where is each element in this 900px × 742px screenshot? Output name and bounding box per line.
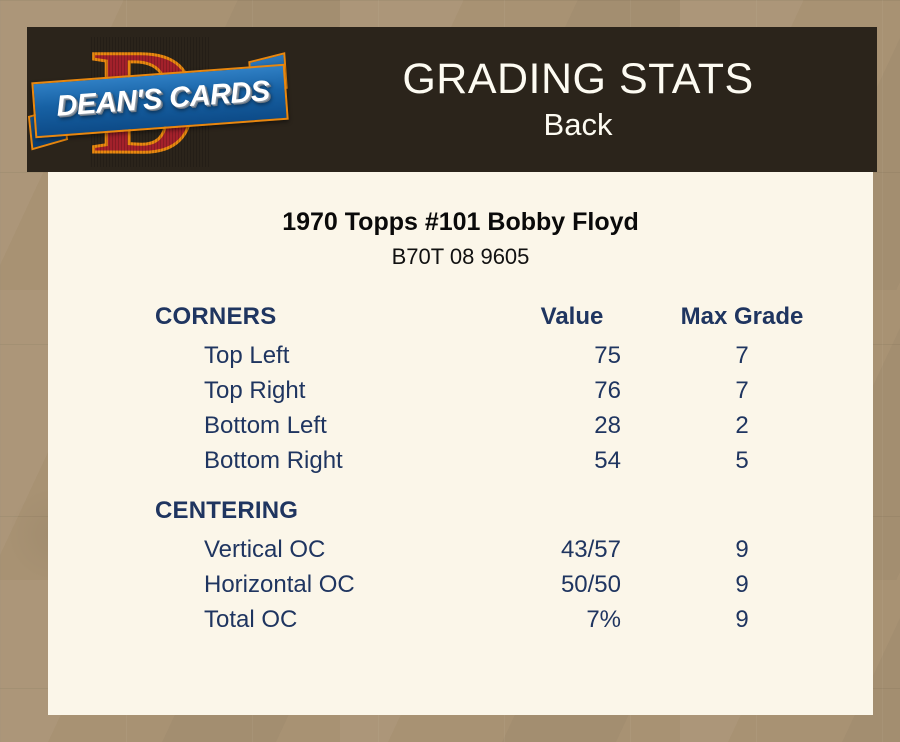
row-value: 28 [487,408,657,443]
row-max-grade: 9 [657,532,827,567]
table-row: Bottom Right545 [155,443,827,478]
row-max-grade: 5 [657,443,827,478]
row-value: 43/57 [487,532,657,567]
row-value: 75 [487,338,657,373]
section-title: CENTERING [155,491,487,532]
row-value: 7% [487,602,657,637]
column-header-value: Value [487,297,657,338]
row-label: Bottom Right [155,443,487,478]
table-row: Bottom Left282 [155,408,827,443]
section-header-row: CENTERING [155,491,827,532]
column-header-max-grade [657,491,827,532]
row-value: 54 [487,443,657,478]
column-header-max-grade: Max Grade [657,297,827,338]
row-value: 76 [487,373,657,408]
row-value: 50/50 [487,567,657,602]
row-max-grade: 9 [657,602,827,637]
row-max-grade: 2 [657,408,827,443]
card-title: 1970 Topps #101 Bobby Floyd [48,206,873,238]
page-subtitle: Back [289,104,867,146]
grading-stats: CORNERSValueMax GradeTop Left757Top Righ… [48,297,873,637]
table-row: Total OC7%9 [155,602,827,637]
table-row: Vertical OC43/579 [155,532,827,567]
row-label: Bottom Left [155,408,487,443]
header-title-group: GRADING STATS Back [289,54,877,146]
row-label: Total OC [155,602,487,637]
header-bar: D DEAN'S CARDS GRADING STATS Back [27,27,877,172]
stats-table: CORNERSValueMax GradeTop Left757Top Righ… [155,297,827,637]
table-row: Top Left757 [155,338,827,373]
row-label: Horizontal OC [155,567,487,602]
row-max-grade: 7 [657,338,827,373]
page-title: GRADING STATS [289,54,867,104]
row-max-grade: 9 [657,567,827,602]
section-title: CORNERS [155,297,487,338]
row-max-grade: 7 [657,373,827,408]
table-spacer-row [155,478,827,491]
deans-cards-logo[interactable]: D DEAN'S CARDS [27,27,289,172]
table-row: Horizontal OC50/509 [155,567,827,602]
column-header-value [487,491,657,532]
content-panel: 1970 Topps #101 Bobby Floyd B70T 08 9605… [48,172,873,715]
row-label: Top Right [155,373,487,408]
row-label: Vertical OC [155,532,487,567]
section-header-row: CORNERSValueMax Grade [155,297,827,338]
card-code: B70T 08 9605 [48,243,873,271]
table-row: Top Right767 [155,373,827,408]
row-label: Top Left [155,338,487,373]
